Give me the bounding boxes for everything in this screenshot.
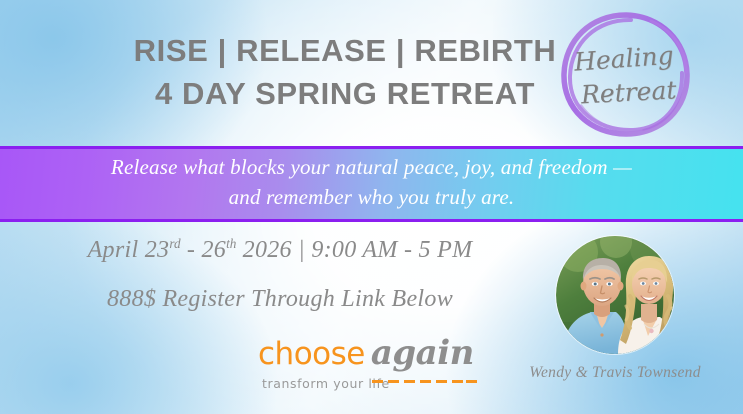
- date-range-mid: - 26: [181, 237, 227, 263]
- healing-retreat-badge: Healing Retreat: [555, 9, 697, 141]
- event-date-time: April 23rd - 26th 2026 | 9:00 AM - 5 PM: [0, 236, 560, 264]
- logo-wordmark: chooseagain: [258, 336, 478, 376]
- brush-circle-icon: [555, 9, 697, 141]
- date-year-time: 2026 | 9:00 AM - 5 PM: [236, 237, 472, 263]
- event-details: April 23rd - 26th 2026 | 9:00 AM - 5 PM …: [0, 236, 560, 313]
- date-month-day: April 23: [88, 237, 170, 263]
- presenters-caption: Wendy & Travis Townsend: [490, 364, 740, 382]
- logo-word-again: again: [371, 333, 474, 373]
- tagline-banner: Release what blocks your natural peace, …: [0, 146, 743, 222]
- choose-again-logo[interactable]: chooseagain transform your life: [258, 336, 478, 404]
- tagline-line-1: Release what blocks your natural peace, …: [111, 153, 632, 183]
- logo-tagline: transform your life: [262, 376, 390, 391]
- date-ordinal-1: rd: [169, 236, 180, 251]
- date-ordinal-2: th: [226, 236, 236, 251]
- presenters-photo: [556, 236, 674, 354]
- tagline-line-2: and remember who you truly are.: [111, 183, 632, 213]
- price-and-registration: 888$ Register Through Link Below: [0, 286, 560, 313]
- retreat-flyer: RISE | RELEASE | REBIRTH 4 DAY SPRING RE…: [0, 0, 743, 414]
- tagline-banner-text: Release what blocks your natural peace, …: [111, 153, 632, 215]
- couple-portrait-image: [556, 236, 674, 354]
- logo-word-choose: choose: [258, 336, 365, 372]
- logo-dash-underline: [372, 380, 476, 384]
